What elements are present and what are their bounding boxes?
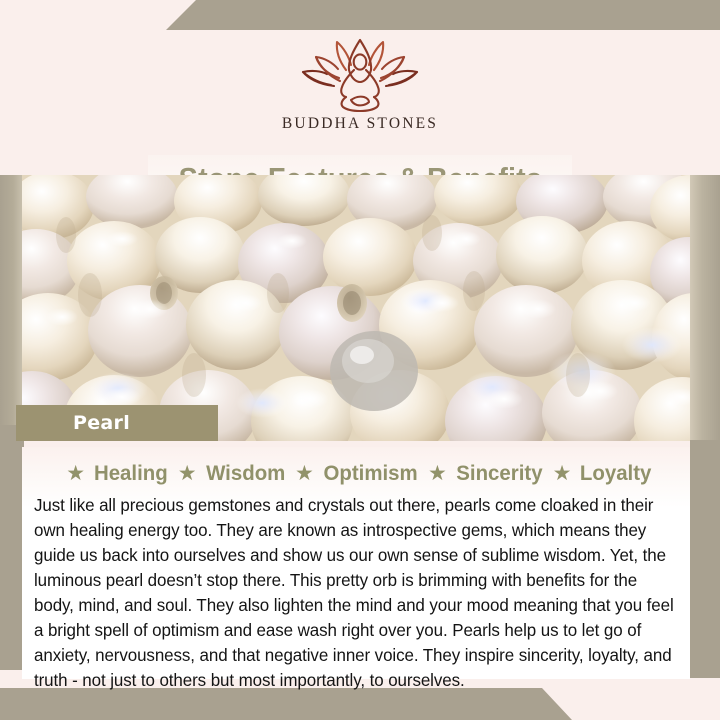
gem-name-bar: Pearl xyxy=(16,405,218,441)
keyword-label: Optimism xyxy=(323,461,417,486)
infographic-page: BUDDHA STONES Stone Features & Benefits xyxy=(0,0,720,720)
pearls-photo-graphic xyxy=(22,175,690,441)
keyword-item-loyalty: ★ Loyalty xyxy=(545,461,654,486)
star-icon: ★ xyxy=(553,463,572,484)
keyword-label: Wisdom xyxy=(206,461,285,486)
frame-left-highlight xyxy=(0,170,24,425)
brand-name: BUDDHA STONES xyxy=(282,115,438,133)
keyword-item-healing: ★ Healing xyxy=(58,461,169,486)
lotus-meditation-icon xyxy=(294,34,426,114)
star-icon: ★ xyxy=(295,463,314,484)
content-panel: ★ Healing ★ Wisdom ★ Optimism ★ Sincerit… xyxy=(22,447,690,679)
description-paragraph: Just like all precious gemstones and cry… xyxy=(34,493,679,693)
star-icon: ★ xyxy=(178,463,197,484)
header: BUDDHA STONES Stone Features & Benefits xyxy=(0,30,720,175)
keyword-item-sincerity: ★ Sincerity xyxy=(420,461,545,486)
star-icon: ★ xyxy=(428,463,447,484)
gem-name: Pearl xyxy=(73,412,130,434)
keyword-label: Healing xyxy=(94,461,168,486)
pearls-photo xyxy=(22,175,690,441)
frame-top-band xyxy=(0,0,720,30)
star-icon: ★ xyxy=(66,463,85,484)
keyword-item-wisdom: ★ Wisdom xyxy=(170,461,287,486)
keyword-label: Sincerity xyxy=(456,461,542,486)
brand-lockup: BUDDHA STONES xyxy=(0,34,720,133)
keyword-list: ★ Healing ★ Wisdom ★ Optimism ★ Sincerit… xyxy=(22,447,690,486)
frame-right-highlight xyxy=(690,175,720,440)
keyword-item-optimism: ★ Optimism xyxy=(287,461,420,486)
keyword-label: Loyalty xyxy=(580,461,652,486)
